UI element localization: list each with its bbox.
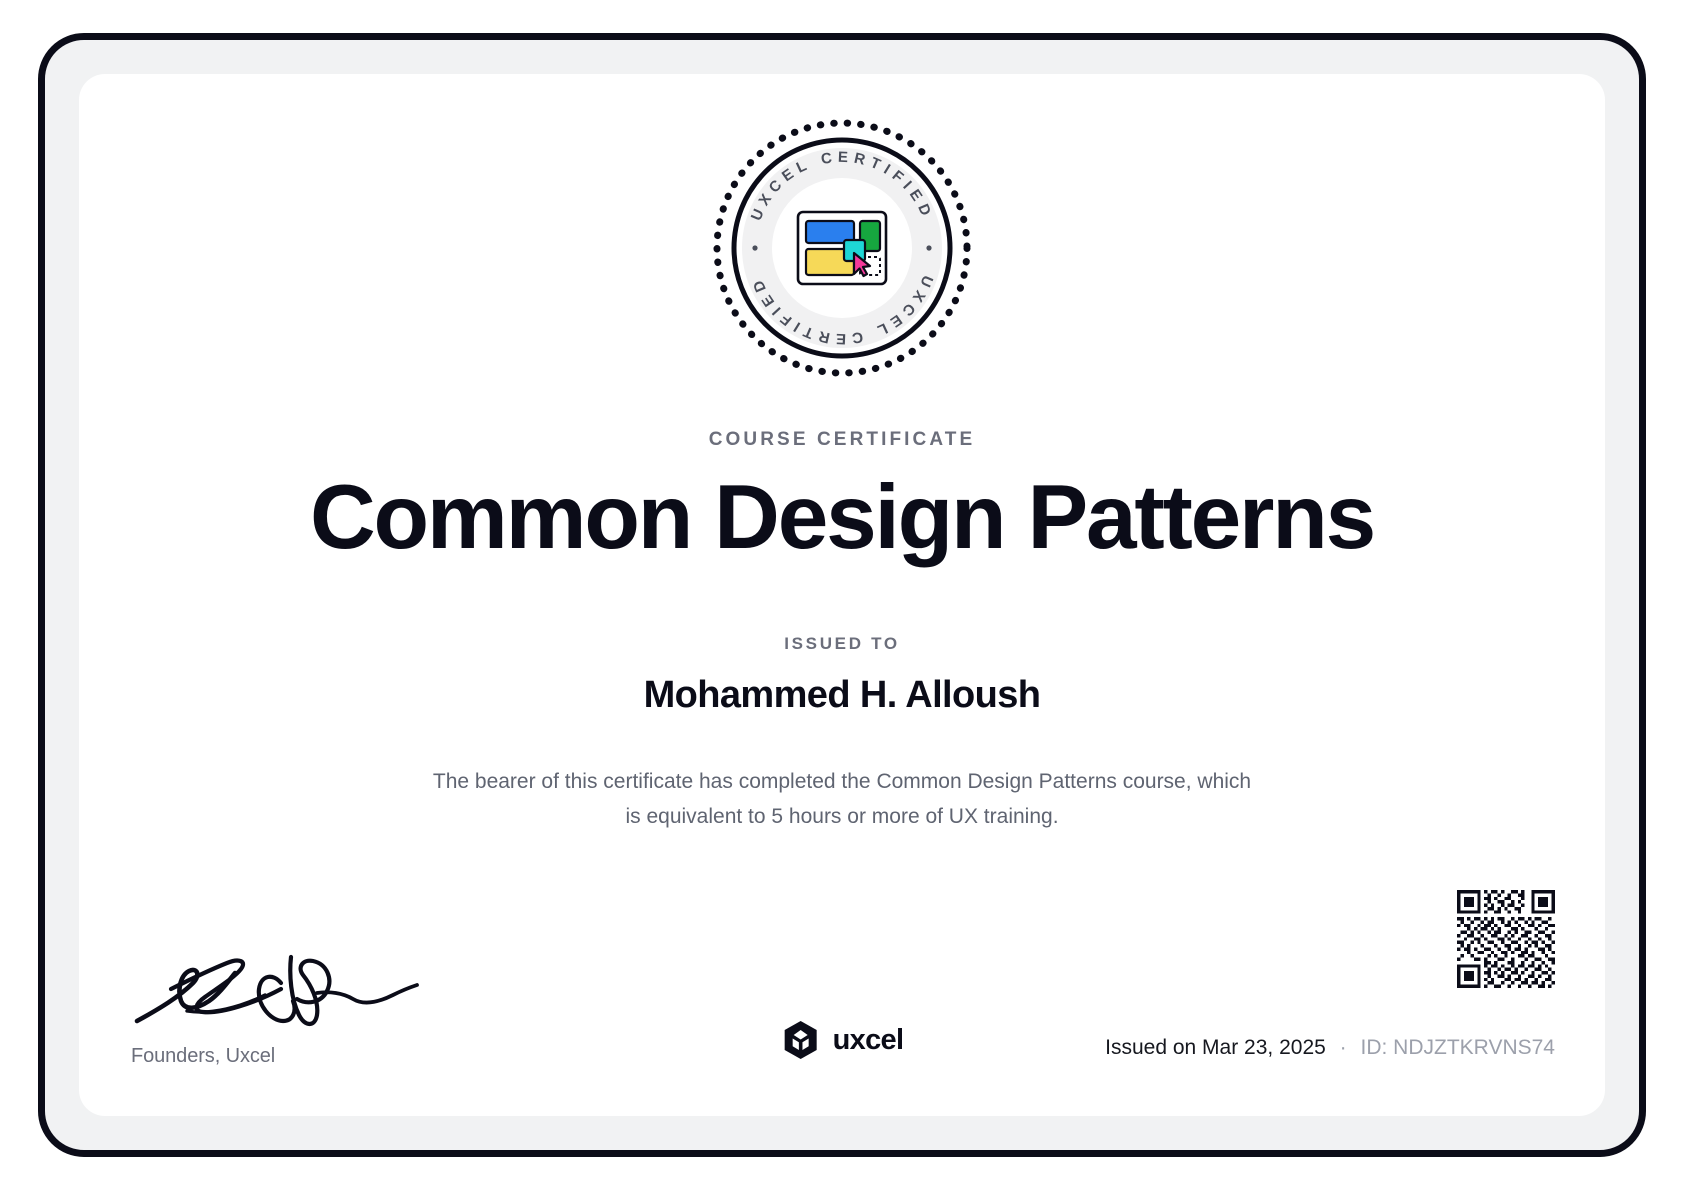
certificate-frame: UXCEL CERTIFIED UXCEL CERTIFIED: [38, 33, 1646, 1157]
issued-to-label: ISSUED TO: [79, 634, 1605, 654]
uxcel-wordmark: uxcel: [833, 1024, 904, 1057]
badge-bullet-left: [752, 245, 757, 250]
certificate-id: ID: NDJZTKRVNS74: [1361, 1036, 1556, 1059]
eyebrow-label: COURSE CERTIFICATE: [79, 429, 1605, 451]
issued-date: Issued on Mar 23, 2025: [1105, 1036, 1326, 1059]
signature-caption: Founders, Uxcel: [131, 1045, 461, 1068]
qr-code[interactable]: [1457, 890, 1555, 988]
uxcel-logo: uxcel: [781, 1020, 904, 1060]
page-title: Common Design Patterns: [79, 470, 1605, 566]
uxcel-hexagon-icon: [781, 1020, 821, 1060]
certificate-card: UXCEL CERTIFIED UXCEL CERTIFIED: [79, 74, 1605, 1116]
signature-block: Founders, Uxcel: [131, 949, 461, 1068]
founders-signature-image: [131, 949, 421, 1035]
certificate-meta: Issued on Mar 23, 2025 · ID: NDJZTKRVNS7…: [1105, 1036, 1555, 1060]
design-patterns-icon: [798, 212, 886, 284]
meta-separator: ·: [1332, 1036, 1355, 1059]
recipient-name: Mohammed H. Alloush: [79, 674, 1605, 717]
badge-bullet-right: [926, 245, 931, 250]
certificate-description: The bearer of this certificate has compl…: [432, 764, 1252, 835]
uxcel-certified-badge: UXCEL CERTIFIED UXCEL CERTIFIED: [706, 112, 978, 384]
